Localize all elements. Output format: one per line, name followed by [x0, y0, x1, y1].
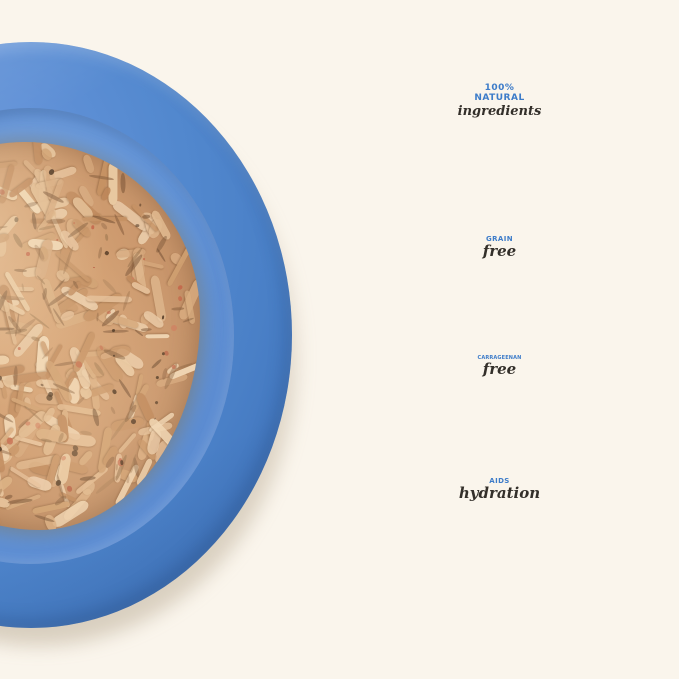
claim-carrageenan-free: CARRAGEENAN free: [320, 356, 679, 378]
food-speck: [155, 376, 159, 380]
food-speck: [164, 350, 170, 356]
food-speck: [14, 217, 18, 223]
food-speck: [105, 250, 110, 255]
claims-column: 100% NATURAL ingredients GRAIN free CARR…: [320, 0, 679, 679]
food-speck: [155, 401, 159, 405]
meat-crevice: [110, 406, 116, 415]
meat-crevice: [8, 497, 33, 504]
food-speck: [178, 295, 183, 301]
food-speck: [171, 325, 177, 331]
meat-shred: [82, 154, 96, 175]
bowl-photo: [0, 42, 292, 628]
meat-crevice: [151, 358, 163, 369]
food-speck: [111, 389, 117, 396]
meat-crevice: [120, 173, 125, 194]
meat-shred: [0, 355, 9, 365]
food-speck: [142, 257, 145, 260]
food-speck: [66, 485, 73, 492]
meat-crevice: [95, 475, 119, 495]
claim-1-cap-line-2: NATURAL: [320, 94, 679, 104]
meat-crevice: [12, 232, 24, 248]
meat-crevice: [100, 222, 108, 231]
claim-2-script: free: [320, 244, 679, 260]
meat-crevice: [103, 330, 129, 334]
meat-shred: [0, 513, 3, 528]
food-speck: [93, 267, 95, 269]
claim-3-script: free: [320, 362, 679, 378]
food-speck: [111, 328, 115, 332]
meat-crevice: [5, 494, 14, 500]
meat-shred: [166, 244, 192, 286]
claim-1-script: ingredients: [320, 105, 679, 119]
claim-4-script: hydration: [320, 486, 679, 502]
meat-crevice: [46, 219, 66, 225]
product-benefits-graphic: 100% NATURAL ingredients GRAIN free CARR…: [0, 0, 679, 679]
claim-natural-ingredients: 100% NATURAL ingredients: [320, 84, 679, 119]
meat-shred: [118, 433, 137, 454]
claim-aids-hydration: AIDS hydration: [320, 478, 679, 502]
food-speck: [176, 285, 183, 292]
claim-grain-free: GRAIN free: [320, 236, 679, 260]
meat-crevice: [104, 234, 108, 242]
meat-crevice: [118, 378, 132, 398]
meat-shred: [78, 450, 95, 468]
meat-crevice: [97, 247, 103, 259]
meat-crevice: [141, 328, 152, 332]
meat-shred: [108, 162, 118, 205]
food-speck: [26, 252, 30, 257]
meat-crevice: [101, 278, 117, 294]
food-speck: [139, 203, 141, 206]
meat-shred: [145, 334, 169, 339]
food-speck: [92, 225, 95, 229]
